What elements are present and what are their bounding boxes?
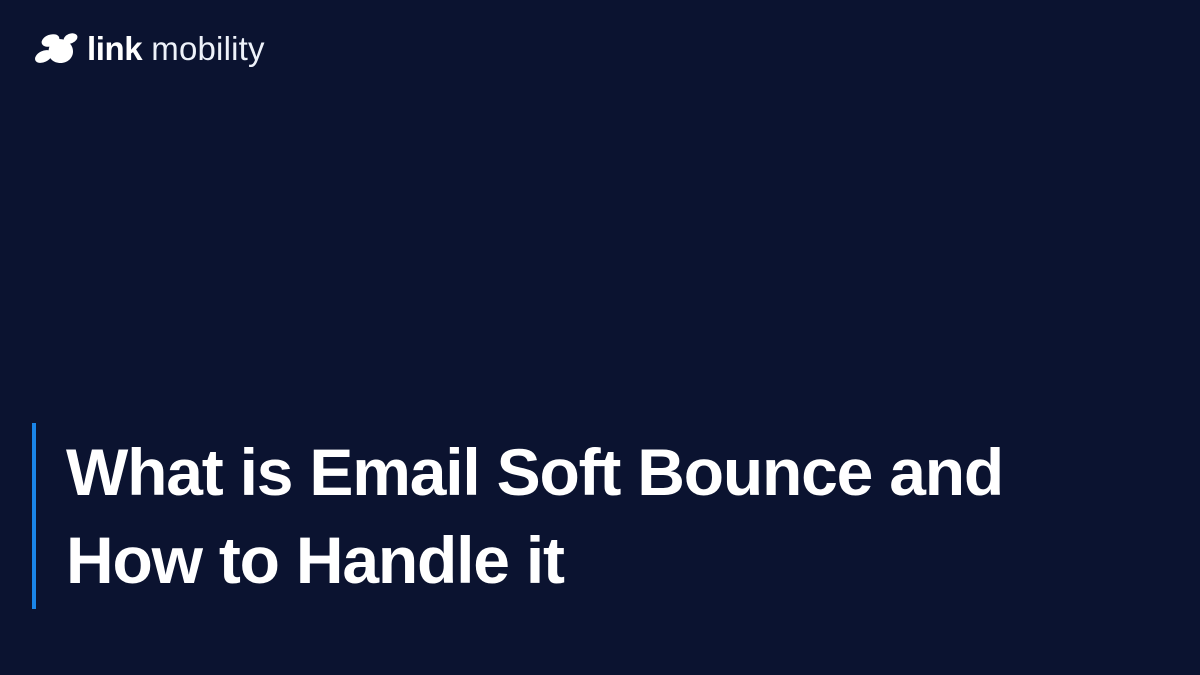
brand-word-mobility: mobility bbox=[151, 32, 264, 65]
brand-logo: link mobility bbox=[34, 26, 265, 70]
page-title: What is Email Soft Bounce and How to Han… bbox=[66, 428, 1046, 604]
title-text-wrap: What is Email Soft Bounce and How to Han… bbox=[36, 423, 1046, 609]
brand-wordmark: link mobility bbox=[87, 32, 265, 65]
title-block: What is Email Soft Bounce and How to Han… bbox=[32, 423, 1046, 609]
link-mobility-blob-mark-icon bbox=[34, 31, 78, 65]
brand-word-link: link bbox=[87, 32, 142, 65]
title-slide: link mobility What is Email Soft Bounce … bbox=[0, 0, 1200, 675]
